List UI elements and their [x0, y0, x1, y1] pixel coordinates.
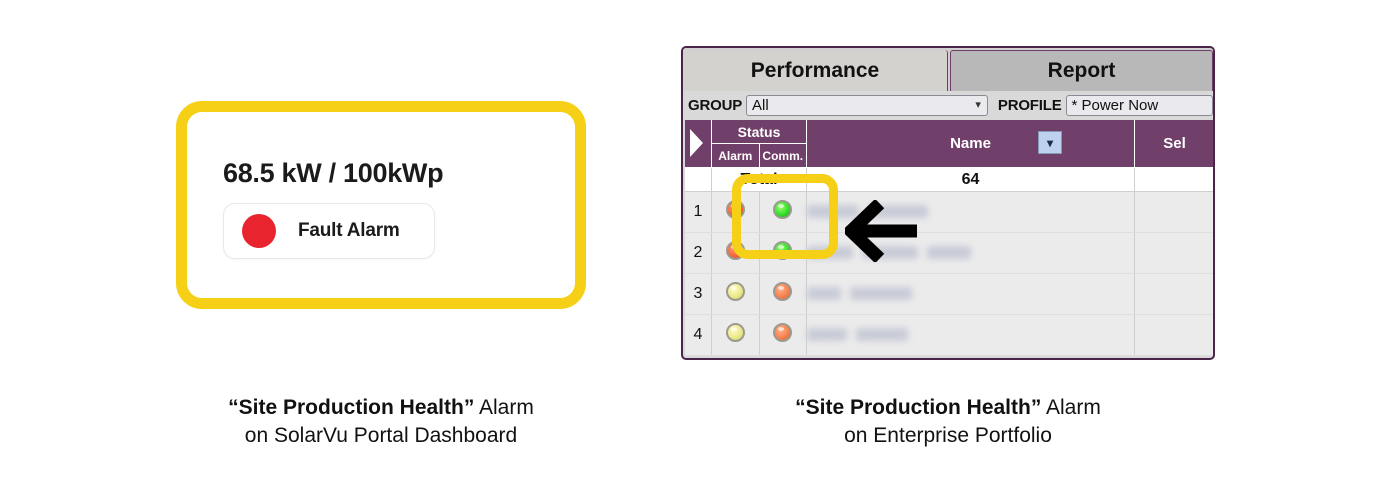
- profile-select[interactable]: * Power Now: [1066, 95, 1214, 116]
- select-cell[interactable]: [1135, 233, 1215, 274]
- comm-status-cell: [759, 315, 807, 356]
- power-readout: 68.5 kW / 100kWp: [223, 158, 443, 189]
- name-header-label: Name: [950, 135, 991, 152]
- alarm-subheader: Alarm: [712, 144, 760, 168]
- caption-left-rest: Alarm: [474, 396, 534, 419]
- total-row-count: 64: [807, 168, 1135, 192]
- group-select-value: All: [747, 97, 769, 114]
- tab-report[interactable]: Report: [950, 50, 1213, 91]
- select-cell[interactable]: [1135, 274, 1215, 315]
- row-index: 3: [685, 274, 712, 315]
- select-header: Sel: [1135, 120, 1215, 168]
- select-cell[interactable]: [1135, 192, 1215, 233]
- alarm-status-cell: [712, 274, 760, 315]
- caption-left: “Site Production Health” Alarm on SolarV…: [181, 394, 581, 450]
- filter-bar: GROUP All ▾ PROFILE * Power Now: [683, 91, 1213, 120]
- table-body: Total 64 1 2 3: [685, 168, 1215, 356]
- comm-subheader: Comm.: [759, 144, 807, 168]
- tab-strip: Performance Report: [683, 48, 1213, 91]
- alarm-led-icon: [726, 323, 745, 342]
- row-index: 1: [685, 192, 712, 233]
- fault-alarm-pill[interactable]: Fault Alarm: [223, 203, 435, 259]
- alarm-led-icon: [726, 282, 745, 301]
- redacted-name: [856, 328, 908, 341]
- caption-right-line1: “Site Production Health” Alarm: [748, 394, 1148, 422]
- portfolio-table: Status Name ▾ Sel Alarm Comm. Total 64 1: [685, 120, 1215, 356]
- triangle-right-icon: [690, 129, 703, 157]
- row-expander-header[interactable]: [685, 120, 712, 168]
- row-index: 2: [685, 233, 712, 274]
- comm-status-cell: [759, 233, 807, 274]
- table-header: Status Name ▾ Sel Alarm Comm.: [685, 120, 1215, 168]
- solarvu-dashboard-card: 68.5 kW / 100kWp Fault Alarm: [176, 101, 586, 309]
- caption-left-line1: “Site Production Health” Alarm: [181, 394, 581, 422]
- comm-led-icon: [773, 282, 792, 301]
- fault-alarm-label: Fault Alarm: [298, 220, 400, 242]
- name-header[interactable]: Name ▾: [807, 120, 1135, 168]
- table-row[interactable]: 1: [685, 192, 1215, 233]
- table-row[interactable]: 4: [685, 315, 1215, 356]
- dashboard-card-inner: 68.5 kW / 100kWp Fault Alarm: [187, 112, 575, 298]
- site-name-cell[interactable]: [807, 315, 1135, 356]
- comm-status-cell: [759, 274, 807, 315]
- total-row-label: Total: [712, 168, 807, 192]
- total-row-index: [685, 168, 712, 192]
- select-cell[interactable]: [1135, 315, 1215, 356]
- site-name-cell[interactable]: [807, 274, 1135, 315]
- caption-right-rest: Alarm: [1041, 396, 1101, 419]
- alarm-status-cell: [712, 192, 760, 233]
- alarm-status-cell: [712, 315, 760, 356]
- pointer-arrow-icon: [845, 200, 917, 262]
- comm-led-icon: [773, 200, 792, 219]
- total-row-select: [1135, 168, 1215, 192]
- fault-alarm-led-icon: [242, 214, 276, 248]
- caption-right-quoted: “Site Production Health”: [795, 396, 1041, 419]
- row-index: 4: [685, 315, 712, 356]
- chevron-down-icon: ▾: [975, 100, 981, 111]
- profile-label: PROFILE: [998, 97, 1062, 114]
- caption-left-line2: on SolarVu Portal Dashboard: [181, 422, 581, 450]
- caption-right: “Site Production Health” Alarm on Enterp…: [748, 394, 1148, 450]
- redacted-name: [807, 287, 841, 300]
- tab-performance[interactable]: Performance: [683, 50, 948, 91]
- enterprise-portfolio-panel: Performance Report GROUP All ▾ PROFILE *…: [681, 46, 1215, 360]
- alarm-status-cell: [712, 233, 760, 274]
- redacted-name: [850, 287, 912, 300]
- caption-right-line2: on Enterprise Portfolio: [748, 422, 1148, 450]
- profile-select-value: * Power Now: [1067, 97, 1159, 114]
- redacted-name: [807, 328, 847, 341]
- name-sort-chevron-down-icon[interactable]: ▾: [1038, 131, 1062, 154]
- table-row[interactable]: 3: [685, 274, 1215, 315]
- redacted-name: [927, 246, 971, 259]
- total-row: Total 64: [685, 168, 1215, 192]
- table-row[interactable]: 2: [685, 233, 1215, 274]
- comm-led-icon: [773, 241, 792, 260]
- group-select[interactable]: All ▾: [746, 95, 988, 116]
- status-header: Status: [712, 120, 807, 144]
- comm-led-icon: [773, 323, 792, 342]
- caption-left-quoted: “Site Production Health”: [228, 396, 474, 419]
- group-label: GROUP: [688, 97, 742, 114]
- comm-status-cell: [759, 192, 807, 233]
- alarm-led-icon: [726, 241, 745, 260]
- alarm-led-icon: [726, 200, 745, 219]
